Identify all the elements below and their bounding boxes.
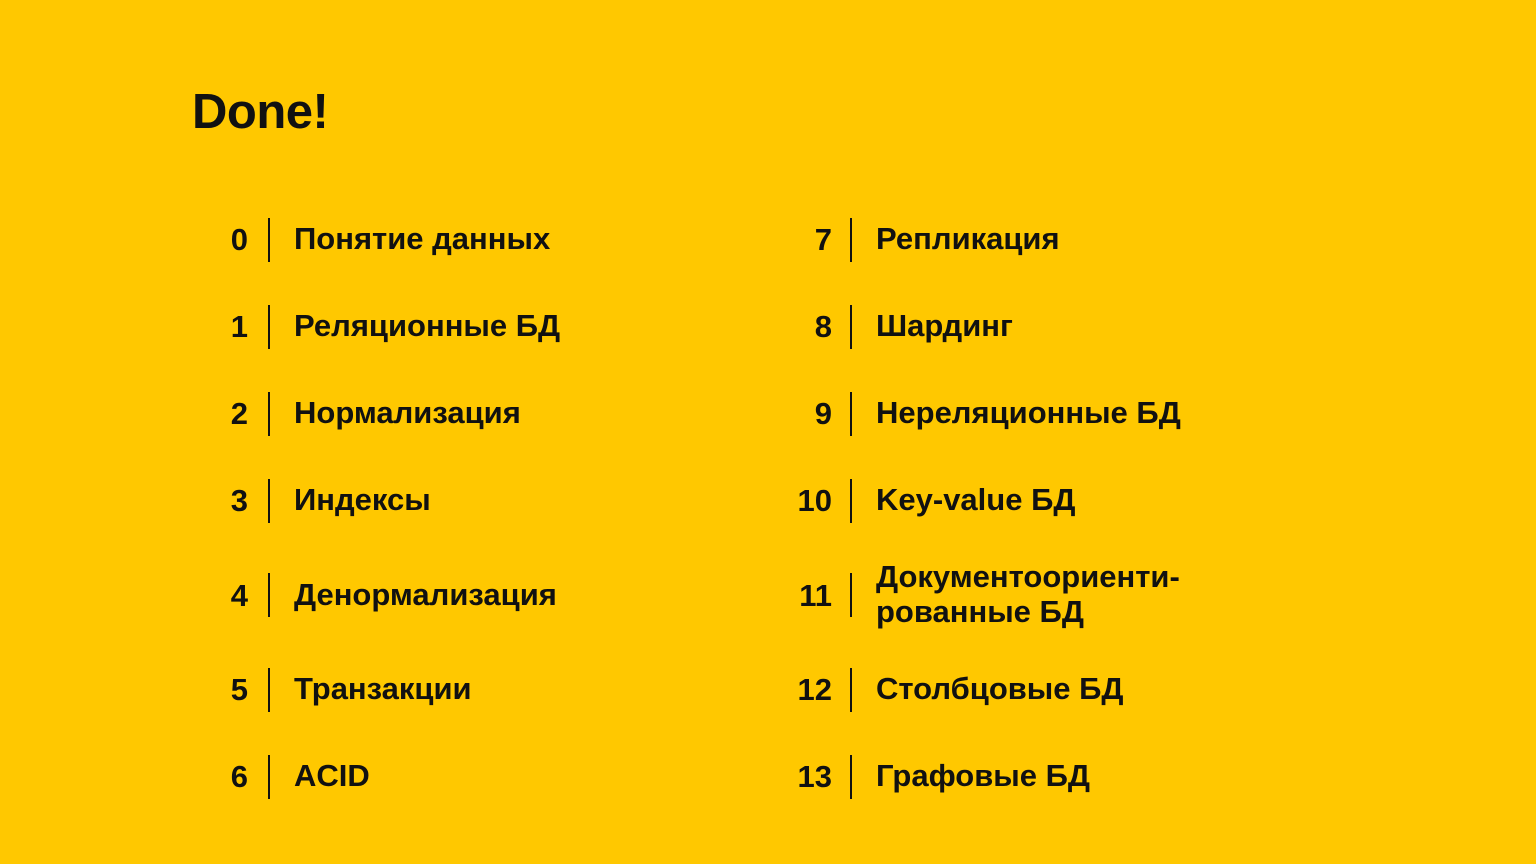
vertical-divider-icon [268, 755, 270, 799]
toc-columns: 0 Понятие данных 1 Реляционные БД 2 Норм… [0, 196, 1536, 820]
vertical-divider-icon [850, 218, 852, 262]
list-item[interactable]: 3 Индексы [192, 457, 752, 544]
vertical-divider-icon [268, 392, 270, 436]
vertical-divider-icon [268, 305, 270, 349]
toc-item-number: 2 [192, 398, 248, 429]
vertical-divider-icon [850, 755, 852, 799]
list-item[interactable]: 6 ACID [192, 733, 752, 820]
toc-item-label: Транзакции [294, 672, 752, 707]
toc-item-number: 1 [192, 311, 248, 342]
toc-item-label: Key-value БД [876, 483, 1414, 518]
toc-item-label: Индексы [294, 483, 752, 518]
list-item[interactable]: 13 Графовые БД [774, 733, 1414, 820]
vertical-divider-icon [268, 479, 270, 523]
toc-item-label: Нормализация [294, 396, 752, 431]
toc-item-label: Реляционные БД [294, 309, 752, 344]
toc-item-number: 8 [774, 311, 832, 342]
list-item[interactable]: 8 Шардинг [774, 283, 1414, 370]
toc-item-label: ACID [294, 759, 752, 794]
list-item[interactable]: 7 Репликация [774, 196, 1414, 283]
slide-canvas: Done! 0 Понятие данных 1 Реляционные БД … [0, 0, 1536, 864]
toc-item-label: Понятие данных [294, 222, 752, 257]
list-item[interactable]: 5 Транзакции [192, 646, 752, 733]
toc-item-number: 3 [192, 485, 248, 516]
toc-item-number: 12 [774, 674, 832, 705]
toc-item-label: Нереляционные БД [876, 396, 1414, 431]
toc-item-number: 5 [192, 674, 248, 705]
list-item[interactable]: 2 Нормализация [192, 370, 752, 457]
list-item[interactable]: 4 Денормализация [192, 544, 752, 646]
toc-item-number: 0 [192, 224, 248, 255]
table-of-contents: 0 Понятие данных 1 Реляционные БД 2 Норм… [0, 196, 1536, 820]
vertical-divider-icon [850, 392, 852, 436]
vertical-divider-icon [268, 668, 270, 712]
list-item[interactable]: 9 Нереляционные БД [774, 370, 1414, 457]
toc-column-left: 0 Понятие данных 1 Реляционные БД 2 Норм… [192, 196, 752, 820]
list-item[interactable]: 1 Реляционные БД [192, 283, 752, 370]
toc-item-number: 13 [774, 761, 832, 792]
toc-item-number: 9 [774, 398, 832, 429]
vertical-divider-icon [850, 479, 852, 523]
list-item[interactable]: 11 Документоориенти- рованные БД [774, 544, 1414, 646]
page-title: Done! [192, 86, 328, 140]
list-item[interactable]: 0 Понятие данных [192, 196, 752, 283]
toc-item-number: 11 [774, 580, 832, 611]
vertical-divider-icon [268, 573, 270, 617]
vertical-divider-icon [850, 668, 852, 712]
toc-item-number: 10 [774, 485, 832, 516]
toc-column-right: 7 Репликация 8 Шардинг 9 Нереляционные Б… [774, 196, 1414, 820]
list-item[interactable]: 12 Столбцовые БД [774, 646, 1414, 733]
vertical-divider-icon [850, 305, 852, 349]
toc-item-label: Денормализация [294, 578, 752, 613]
toc-item-label: Документоориенти- рованные БД [876, 560, 1414, 629]
list-item[interactable]: 10 Key-value БД [774, 457, 1414, 544]
toc-item-number: 6 [192, 761, 248, 792]
toc-item-number: 7 [774, 224, 832, 255]
toc-item-number: 4 [192, 580, 248, 611]
vertical-divider-icon [268, 218, 270, 262]
toc-item-label: Графовые БД [876, 759, 1414, 794]
toc-item-label: Шардинг [876, 309, 1414, 344]
toc-item-label: Репликация [876, 222, 1414, 257]
toc-item-label: Столбцовые БД [876, 672, 1414, 707]
vertical-divider-icon [850, 573, 852, 617]
